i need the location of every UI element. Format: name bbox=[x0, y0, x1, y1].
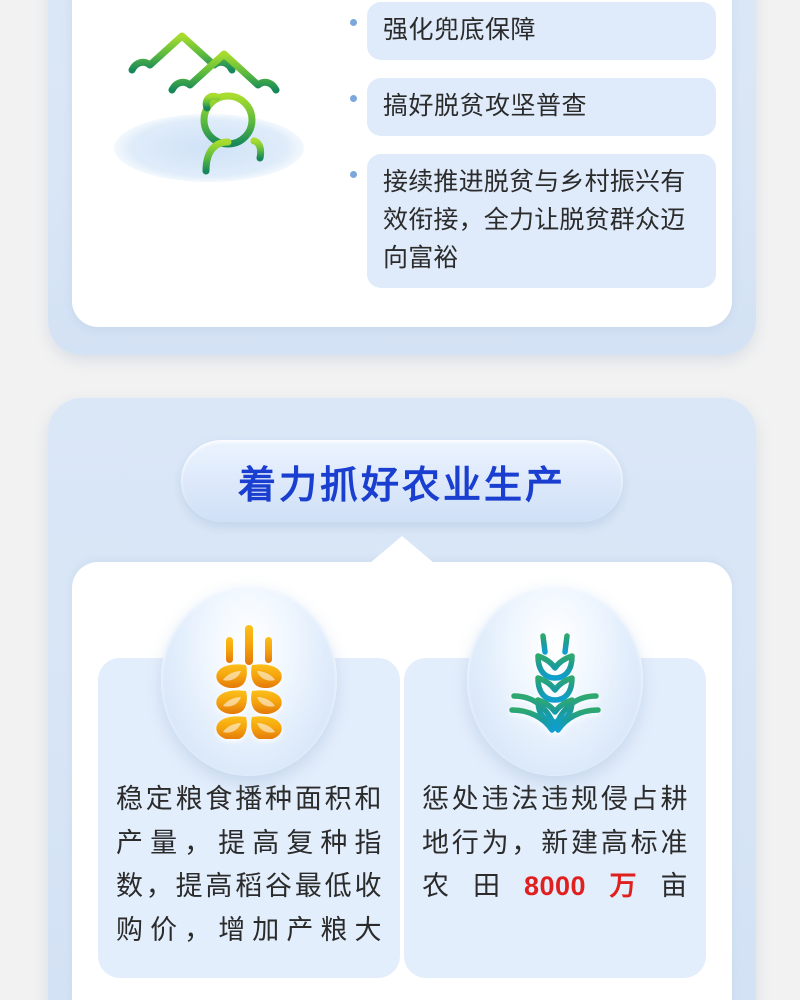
poverty-alleviation-card: 强化兜底保障 搞好脱贫攻坚普查 接续推进脱贫与乡村振兴有效衔接，全力让脱贫群众迈… bbox=[48, 0, 756, 355]
column-paragraph: 惩处违法违规侵占耕地行为，新建高标准农田8000万亩 bbox=[422, 778, 688, 909]
agriculture-content-panel: 稳定粮食播种面积和产量，提高复种指数，提高稻谷最低收购价，增加产粮大 bbox=[72, 562, 732, 1000]
agriculture-columns: 稳定粮食播种面积和产量，提高复种指数，提高稻谷最低收购价，增加产粮大 bbox=[72, 562, 732, 1000]
column-paragraph: 稳定粮食播种面积和产量，提高复种指数，提高稻谷最低收购价，增加产粮大 bbox=[116, 778, 382, 953]
bullet-text: 强化兜底保障 bbox=[367, 2, 716, 60]
infographic-page: 强化兜底保障 搞好脱贫攻坚普查 接续推进脱贫与乡村振兴有效衔接，全力让脱贫群众迈… bbox=[0, 0, 800, 1000]
bullet-text: 接续推进脱贫与乡村振兴有效衔接，全力让脱贫群众迈向富裕 bbox=[367, 154, 716, 288]
village-pavilion-person-icon bbox=[110, 8, 320, 198]
column-farmland-protection: 惩处违法违规侵占耕地行为，新建高标准农田8000万亩 bbox=[404, 658, 706, 1000]
column-text-lead: 稳定粮食播种面积和产量，提高复种指数，提高稻谷最低收购价，增加产粮大 bbox=[116, 784, 382, 945]
panel-notch-icon bbox=[370, 536, 434, 563]
bullet-dot-icon bbox=[350, 171, 357, 178]
agriculture-production-card: 着力抓好农业生产 稳定粮食播种面积和产量，提高复种指数，提高稻谷最低收购价，增加… bbox=[48, 398, 756, 1000]
list-item[interactable]: 接续推进脱贫与乡村振兴有效衔接，全力让脱贫群众迈向富裕 bbox=[350, 154, 716, 288]
village-illustration bbox=[110, 8, 320, 198]
column-text-tail: 亩 bbox=[661, 871, 689, 901]
list-item[interactable]: 搞好脱贫攻坚普查 bbox=[350, 78, 716, 136]
column-grain-production: 稳定粮食播种面积和产量，提高复种指数，提高稻谷最低收购价，增加产粮大 bbox=[98, 658, 400, 1000]
bullet-dot-icon bbox=[350, 95, 357, 102]
page-title: 着力抓好农业生产 bbox=[238, 454, 566, 509]
section-title-pill: 着力抓好农业生产 bbox=[181, 440, 623, 522]
status-badge: 8000万 bbox=[524, 871, 661, 901]
wheat-field-icon bbox=[467, 584, 643, 776]
wheat-ear-icon bbox=[161, 584, 337, 776]
list-item[interactable]: 强化兜底保障 bbox=[350, 2, 716, 60]
bullet-list: 强化兜底保障 搞好脱贫攻坚普查 接续推进脱贫与乡村振兴有效衔接，全力让脱贫群众迈… bbox=[350, 2, 716, 306]
poverty-alleviation-card-inner: 强化兜底保障 搞好脱贫攻坚普查 接续推进脱贫与乡村振兴有效衔接，全力让脱贫群众迈… bbox=[72, 0, 732, 327]
bullet-dot-icon bbox=[350, 19, 357, 26]
bullet-text: 搞好脱贫攻坚普查 bbox=[367, 78, 716, 136]
